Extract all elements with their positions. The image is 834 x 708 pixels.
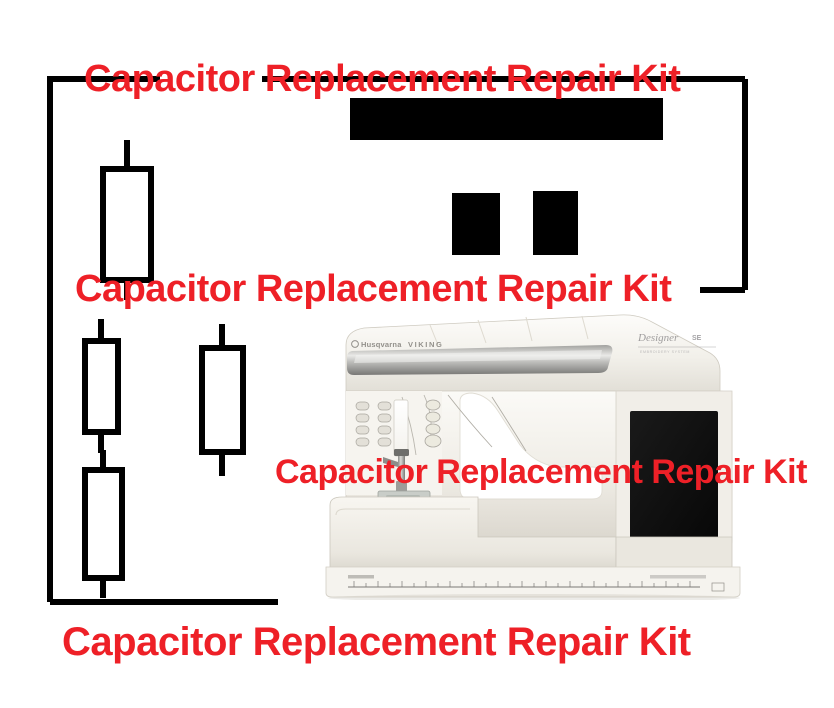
svg-text:VIKING: VIKING: [408, 340, 443, 349]
watermark-text-lower-middle: Capacitor Replacement Repair Kit: [275, 455, 807, 489]
redaction-bar-main: [350, 98, 663, 140]
svg-text:SE: SE: [692, 335, 702, 342]
capacitor-symbol-2: [85, 319, 118, 453]
watermark-text-upper-middle: Capacitor Replacement Repair Kit: [75, 270, 671, 308]
svg-text:Husqvarna: Husqvarna: [361, 340, 402, 349]
redaction-bar-right: [533, 191, 578, 255]
capacitor-symbol-3: [202, 324, 243, 476]
watermark-text-bottom: Capacitor Replacement Repair Kit: [62, 622, 691, 662]
watermark-text-top: Capacitor Replacement Repair Kit: [84, 60, 680, 98]
brand-logo: Husqvarna VIKING: [352, 340, 444, 349]
svg-text:EMBROIDERY SYSTEM: EMBROIDERY SYSTEM: [640, 350, 690, 354]
product-image-canvas: Husqvarna VIKING Designer SE EMBROIDERY …: [0, 0, 834, 708]
svg-text:Designer: Designer: [637, 332, 679, 344]
redaction-bar-left: [452, 193, 500, 255]
capacitor-symbol-4: [85, 450, 122, 598]
